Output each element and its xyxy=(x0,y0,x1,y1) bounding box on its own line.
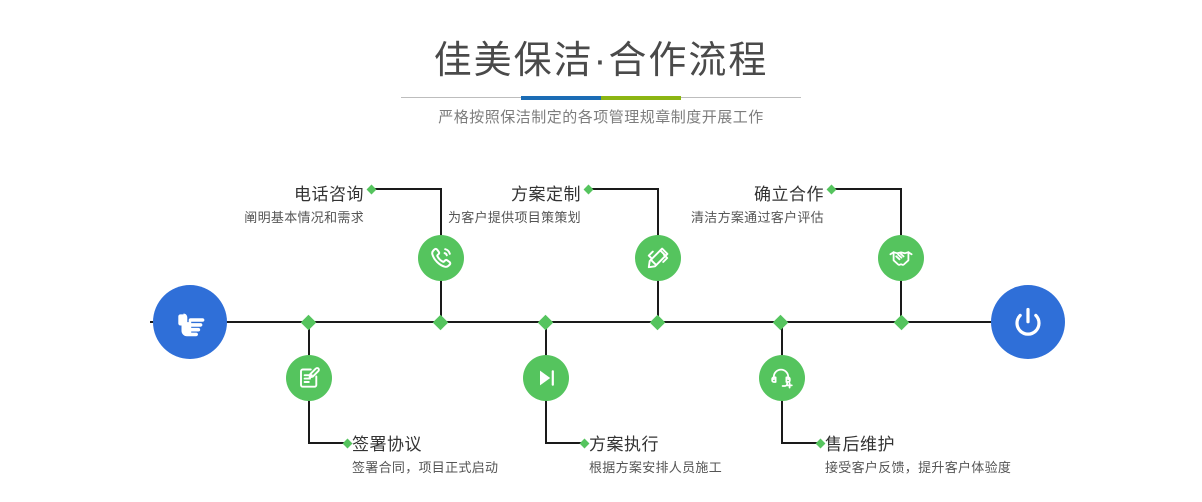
step-title-6: 售后维护 xyxy=(825,434,1105,456)
timeline-end-endpoint[interactable] xyxy=(991,285,1065,359)
step-desc-4: 根据方案安排人员施工 xyxy=(589,458,849,478)
divider-segment-olive xyxy=(601,96,681,100)
pointing-hand-icon xyxy=(168,300,212,344)
step-label-6: 售后维护 接受客户反馈，提升客户体验度 xyxy=(825,434,1105,478)
page-subtitle: 严格按照保洁制定的各项管理规章制度开展工作 xyxy=(0,106,1202,130)
page-header: 佳美保洁·合作流程 严格按照保洁制定的各项管理规章制度开展工作 xyxy=(0,0,1202,140)
step-desc-6: 接受客户反馈，提升客户体验度 xyxy=(825,458,1105,478)
axis-marker-1 xyxy=(300,314,316,330)
axis-marker-3 xyxy=(537,314,553,330)
phone-call-icon xyxy=(427,244,455,272)
step-node-1[interactable] xyxy=(418,235,464,281)
step-desc-5: 清洁方案通过客户评估 xyxy=(578,208,824,228)
title-divider xyxy=(401,96,801,100)
step-label-2: 签署协议 签署合同，项目正式启动 xyxy=(352,434,612,478)
step-node-4[interactable] xyxy=(523,355,569,401)
step-desc-3: 为客户提供项目策策划 xyxy=(335,208,581,228)
customer-service-add-icon xyxy=(768,364,796,392)
timeline-axis xyxy=(150,321,1052,323)
page-title: 佳美保洁·合作流程 xyxy=(0,38,1202,84)
connector-bullet-5 xyxy=(827,184,837,194)
timeline-start-endpoint[interactable] xyxy=(153,285,227,359)
connector-arm-1 xyxy=(372,188,442,190)
axis-marker-6 xyxy=(893,314,909,330)
process-timeline: 电话咨询 阐明基本情况和需求 签署协议 签署合同，项目正式启动 xyxy=(0,150,1202,502)
step-node-2[interactable] xyxy=(286,355,332,401)
step-label-4: 方案执行 根据方案安排人员施工 xyxy=(589,434,849,478)
divider-segment-blue xyxy=(521,96,601,100)
step-desc-1: 阐明基本情况和需求 xyxy=(118,208,364,228)
step-node-3[interactable] xyxy=(635,235,681,281)
connector-arm-3 xyxy=(589,188,659,190)
step-title-1: 电话咨询 xyxy=(118,184,364,206)
step-label-1: 电话咨询 阐明基本情况和需求 xyxy=(118,184,364,228)
play-execute-icon xyxy=(532,364,560,392)
step-title-4: 方案执行 xyxy=(589,434,849,456)
power-icon xyxy=(1006,300,1050,344)
step-label-5: 确立合作 清洁方案通过客户评估 xyxy=(578,184,824,228)
step-node-5[interactable] xyxy=(878,235,924,281)
connector-bullet-2 xyxy=(343,438,353,448)
step-title-2: 签署协议 xyxy=(352,434,612,456)
handshake-icon xyxy=(887,244,915,272)
document-sign-icon xyxy=(295,364,323,392)
connector-arm-5 xyxy=(832,188,902,190)
axis-marker-5 xyxy=(772,314,788,330)
step-desc-2: 签署合同，项目正式启动 xyxy=(352,458,612,478)
axis-marker-2 xyxy=(432,314,448,330)
pencil-ruler-icon xyxy=(644,244,672,272)
axis-marker-4 xyxy=(649,314,665,330)
flow-diagram-page: 佳美保洁·合作流程 严格按照保洁制定的各项管理规章制度开展工作 xyxy=(0,0,1202,502)
step-node-6[interactable] xyxy=(759,355,805,401)
